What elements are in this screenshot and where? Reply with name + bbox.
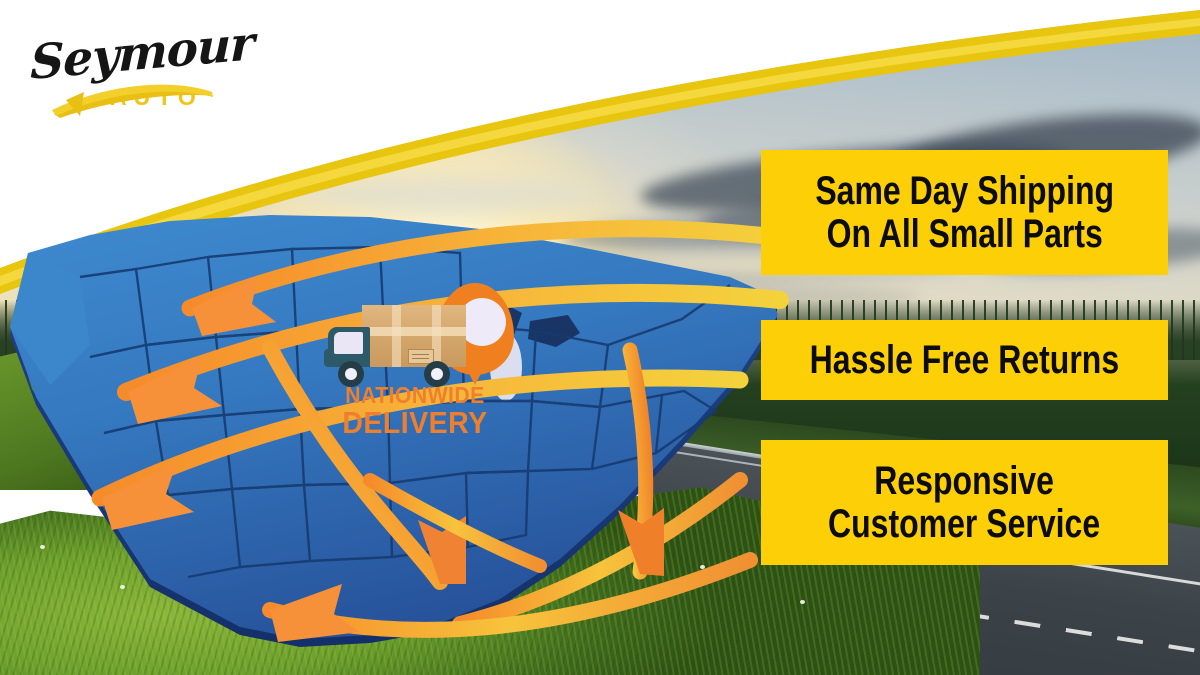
callout-line: Same Day Shipping	[815, 170, 1114, 212]
badge-line-2: DELIVERY	[328, 407, 503, 440]
callout-box-same-day-shipping[interactable]: Same Day Shipping On All Small Parts	[761, 150, 1168, 275]
callout-box-hassle-free-returns[interactable]: Hassle Free Returns	[761, 320, 1168, 400]
nationwide-delivery-badge: NATIONWIDE DELIVERY	[320, 283, 510, 448]
marketing-banner: NATIONWIDE DELIVERY Seymour AUTO Same Da…	[0, 0, 1200, 675]
callout-box-responsive-customer-service[interactable]: Responsive Customer Service	[761, 440, 1168, 565]
truck-box-tape	[392, 305, 401, 367]
badge-line-1: NATIONWIDE	[328, 384, 503, 407]
truck-window	[334, 332, 363, 354]
nationwide-delivery-text: NATIONWIDE DELIVERY	[320, 384, 510, 440]
seymour-auto-logo[interactable]: Seymour AUTO	[22, 18, 242, 128]
callout-line: Hassle Free Returns	[810, 339, 1119, 381]
truck-box-tape	[362, 327, 466, 336]
callout-line: Responsive	[828, 460, 1100, 502]
logo-yellow-swoosh	[22, 18, 242, 128]
callout-line: On All Small Parts	[815, 213, 1114, 255]
callout-line: Customer Service	[828, 503, 1100, 545]
